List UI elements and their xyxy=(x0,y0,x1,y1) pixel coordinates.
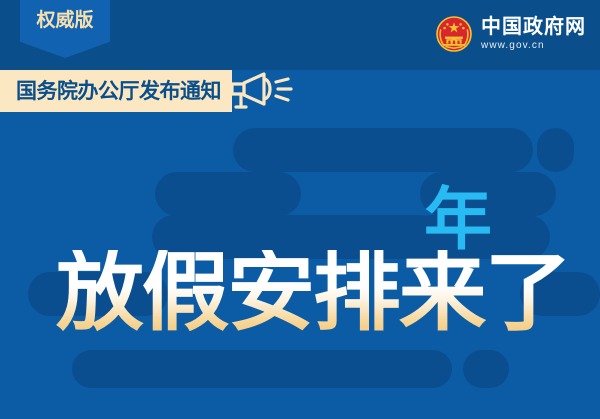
headline-title: 放假安排来了 xyxy=(56,250,570,336)
deco-dot-2 xyxy=(463,350,509,388)
deco-bar-3 xyxy=(155,172,301,216)
deco-bar-2 xyxy=(420,128,520,172)
megaphone-icon xyxy=(222,62,300,120)
china-national-emblem-icon xyxy=(436,16,472,52)
announcement-banner: 国务院办公厅发布通知 xyxy=(0,70,232,112)
poster-canvas: 权威版 xyxy=(0,0,600,419)
gov-logo[interactable]: 中国政府网 www.gov.cn xyxy=(436,12,586,56)
gov-site-name: 中国政府网 xyxy=(481,17,586,38)
badge-label: 权威版 xyxy=(36,11,93,30)
headline: 放假安排来了 xyxy=(56,243,536,343)
gov-logo-text: 中国政府网 www.gov.cn xyxy=(481,17,586,51)
gov-site-url: www.gov.cn xyxy=(481,41,586,51)
deco-bar-9 xyxy=(72,350,452,388)
announcement-banner-label: 国务院办公厅发布通知 xyxy=(16,81,221,102)
deco-dot-1 xyxy=(537,128,574,172)
